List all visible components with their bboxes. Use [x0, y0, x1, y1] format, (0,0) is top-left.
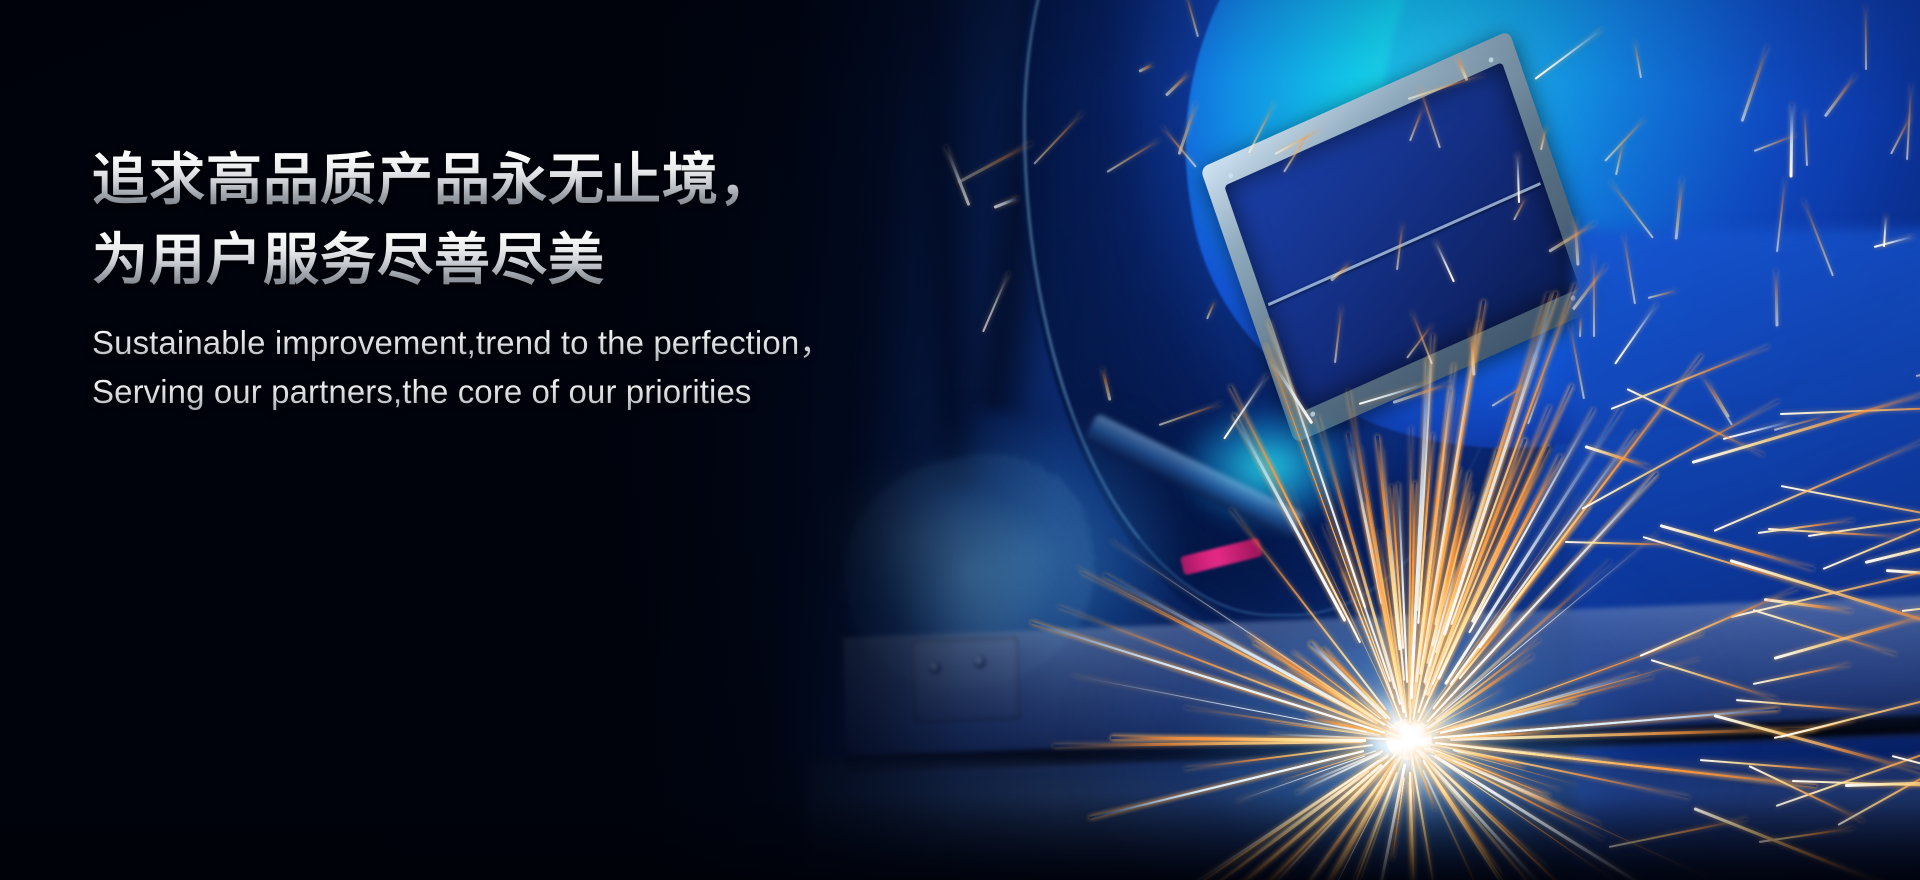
bottom-fade	[0, 792, 1920, 880]
headline-line-1: 追求高品质产品永无止境，	[92, 140, 1092, 220]
banner-copy: 追求高品质产品永无止境， 为用户服务尽善尽美 Sustainable impro…	[92, 140, 1092, 417]
subhead-line-2: Serving our partners,the core of our pri…	[92, 368, 1092, 417]
headline-line-2: 为用户服务尽善尽美	[92, 220, 1092, 300]
hero-banner: 追求高品质产品永无止境， 为用户服务尽善尽美 Sustainable impro…	[0, 0, 1920, 880]
photo-vignette	[0, 0, 1920, 880]
welding-photo-background	[0, 0, 1920, 880]
subhead-line-1: Sustainable improvement,trend to the per…	[92, 319, 1092, 368]
